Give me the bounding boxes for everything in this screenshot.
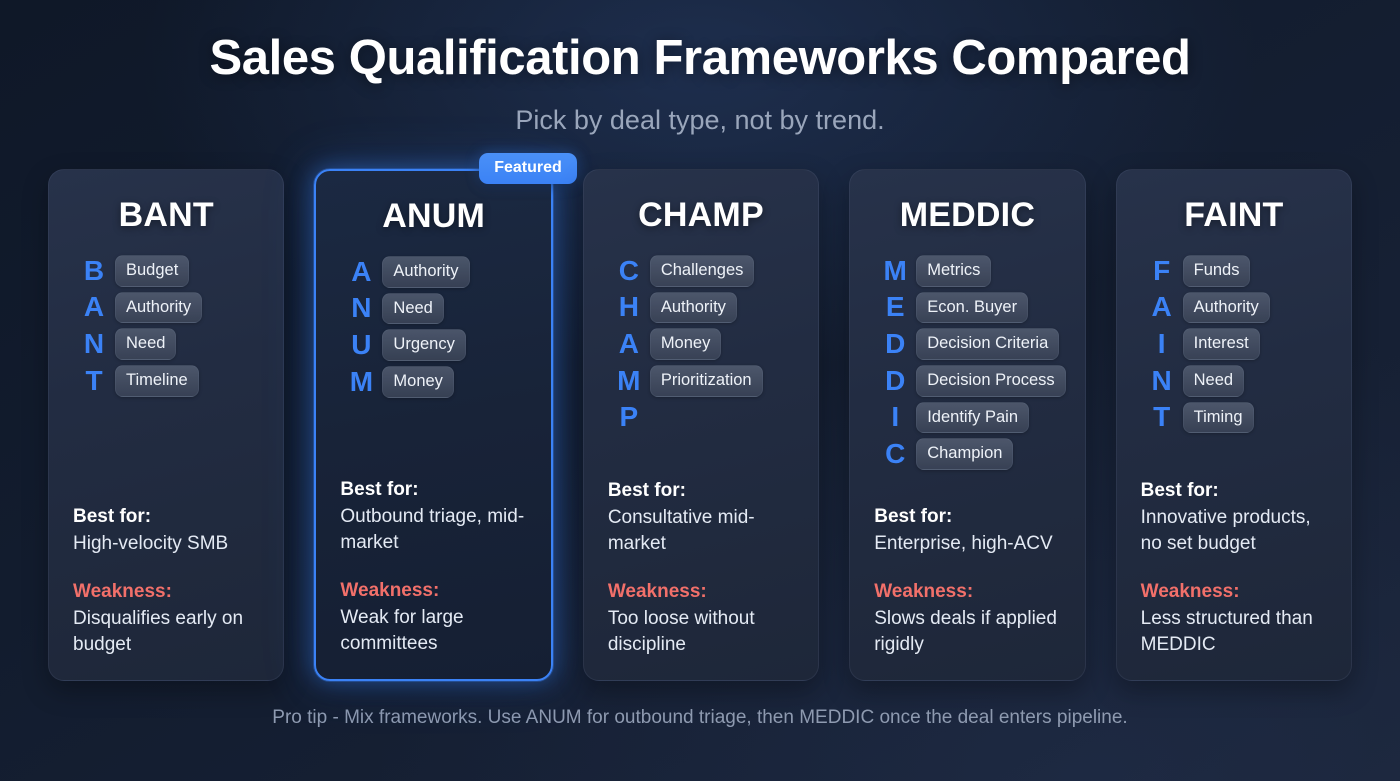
- acronym-list: FFundsAAuthorityIInterestNNeedTTiming: [1141, 255, 1327, 433]
- acronym-row: HAuthority: [616, 292, 737, 324]
- weakness-label: Weakness:: [73, 581, 259, 603]
- framework-title: MEDDIC: [874, 196, 1060, 235]
- acronym-term-chip: Authority: [382, 256, 469, 288]
- acronym-term-chip: Identify Pain: [916, 402, 1029, 434]
- best-for-text: Consultative mid-market: [608, 505, 794, 557]
- acronym-term-chip: Funds: [1183, 255, 1251, 287]
- acronym-letter: M: [348, 368, 374, 396]
- acronym-list: BBudgetAAuthorityNNeedTTimeline: [73, 255, 259, 397]
- acronym-term-chip: Champion: [916, 438, 1013, 470]
- best-for-text: Outbound triage, mid-market: [340, 504, 526, 556]
- acronym-letter: C: [882, 440, 908, 468]
- acronym-letter: T: [81, 367, 107, 395]
- acronym-row: FFunds: [1149, 255, 1251, 287]
- acronym-row: AMoney: [616, 328, 722, 360]
- acronym-row: MMetrics: [882, 255, 991, 287]
- acronym-term-chip: Decision Criteria: [916, 328, 1059, 360]
- framework-card-champ[interactable]: CHAMPCChallengesHAuthorityAMoneyMPriorit…: [583, 169, 819, 681]
- weakness-block: Weakness:Too loose without discipline: [608, 581, 794, 658]
- framework-card-bant[interactable]: BANTBBudgetAAuthorityNNeedTTimelineBest …: [48, 169, 284, 681]
- best-for-block: Best for:Enterprise, high-ACV: [874, 506, 1060, 557]
- acronym-letter: M: [616, 367, 642, 395]
- acronym-row: CChampion: [882, 438, 1013, 470]
- best-for-block: Best for:Consultative mid-market: [608, 480, 794, 557]
- acronym-letter: N: [1149, 367, 1175, 395]
- card-info: Best for:Enterprise, high-ACVWeakness:Sl…: [874, 506, 1060, 658]
- acronym-term-chip: Timing: [1183, 402, 1254, 434]
- acronym-letter: T: [1149, 403, 1175, 431]
- acronym-row: BBudget: [81, 255, 189, 287]
- acronym-letter: M: [882, 257, 908, 285]
- framework-title: BANT: [73, 196, 259, 235]
- footer-pro-tip: Pro tip - Mix frameworks. Use ANUM for o…: [0, 707, 1400, 729]
- acronym-letter: D: [882, 330, 908, 358]
- framework-card-meddic[interactable]: MEDDICMMetricsEEcon. BuyerDDecision Crit…: [849, 169, 1085, 681]
- framework-title: CHAMP: [608, 196, 794, 235]
- acronym-letter: P: [616, 403, 642, 431]
- acronym-term-chip: Need: [115, 328, 176, 360]
- acronym-row: CChallenges: [616, 255, 755, 287]
- acronym-letter: N: [81, 330, 107, 358]
- acronym-letter: E: [882, 293, 908, 321]
- best-for-block: Best for:Innovative products, no set bud…: [1141, 480, 1327, 557]
- acronym-letter: A: [1149, 293, 1175, 321]
- acronym-letter: A: [81, 293, 107, 321]
- best-for-label: Best for:: [608, 480, 794, 502]
- acronym-letter: A: [616, 330, 642, 358]
- card-info: Best for:Outbound triage, mid-marketWeak…: [340, 479, 526, 657]
- weakness-text: Weak for large committees: [340, 605, 526, 657]
- acronym-term-chip: Timeline: [115, 365, 199, 397]
- weakness-text: Less structured than MEDDIC: [1141, 606, 1327, 658]
- acronym-row: EEcon. Buyer: [882, 292, 1028, 324]
- acronym-letter: H: [616, 293, 642, 321]
- acronym-term-chip: Money: [382, 366, 454, 398]
- best-for-text: High-velocity SMB: [73, 531, 259, 557]
- weakness-text: Disqualifies early on budget: [73, 606, 259, 658]
- acronym-letter: N: [348, 294, 374, 322]
- acronym-term-chip: Money: [650, 328, 722, 360]
- weakness-block: Weakness:Weak for large committees: [340, 580, 526, 657]
- weakness-label: Weakness:: [874, 581, 1060, 603]
- acronym-row: AAuthority: [348, 256, 469, 288]
- weakness-label: Weakness:: [340, 580, 526, 602]
- acronym-row: NNeed: [1149, 365, 1244, 397]
- best-for-block: Best for:High-velocity SMB: [73, 506, 259, 557]
- page-root: Sales Qualification Frameworks Compared …: [0, 0, 1400, 781]
- acronym-row: MPrioritization: [616, 365, 763, 397]
- acronym-term-chip: Econ. Buyer: [916, 292, 1028, 324]
- acronym-list: CChallengesHAuthorityAMoneyMPrioritizati…: [608, 255, 794, 433]
- acronym-term-chip: Metrics: [916, 255, 991, 287]
- acronym-row: DDecision Process: [882, 365, 1065, 397]
- acronym-letter: U: [348, 331, 374, 359]
- acronym-row: IInterest: [1149, 328, 1260, 360]
- acronym-term-chip: Need: [1183, 365, 1244, 397]
- acronym-list: MMetricsEEcon. BuyerDDecision CriteriaDD…: [874, 255, 1060, 470]
- acronym-list: AAuthorityNNeedUUrgencyMMoney: [340, 256, 526, 398]
- page-subtitle: Pick by deal type, not by trend.: [0, 105, 1400, 136]
- weakness-label: Weakness:: [608, 581, 794, 603]
- acronym-letter: B: [81, 257, 107, 285]
- acronym-letter: D: [882, 367, 908, 395]
- acronym-row: TTimeline: [81, 365, 199, 397]
- acronym-row: DDecision Criteria: [882, 328, 1059, 360]
- best-for-label: Best for:: [1141, 480, 1327, 502]
- best-for-text: Enterprise, high-ACV: [874, 531, 1060, 557]
- card-info: Best for:High-velocity SMBWeakness:Disqu…: [73, 506, 259, 658]
- card-info: Best for:Innovative products, no set bud…: [1141, 480, 1327, 658]
- acronym-term-chip: Authority: [650, 292, 737, 324]
- best-for-block: Best for:Outbound triage, mid-market: [340, 479, 526, 556]
- acronym-row: NNeed: [81, 328, 176, 360]
- acronym-term-chip: Authority: [115, 292, 202, 324]
- framework-card-anum[interactable]: FeaturedANUMAAuthorityNNeedUUrgencyMMone…: [314, 169, 552, 681]
- card-info: Best for:Consultative mid-marketWeakness…: [608, 480, 794, 658]
- page-header: Sales Qualification Frameworks Compared …: [0, 0, 1400, 136]
- weakness-text: Too loose without discipline: [608, 606, 794, 658]
- acronym-row: AAuthority: [1149, 292, 1270, 324]
- acronym-letter: I: [1149, 330, 1175, 358]
- acronym-row: P: [616, 402, 642, 433]
- acronym-row: UUrgency: [348, 329, 465, 361]
- acronym-term-chip: Authority: [1183, 292, 1270, 324]
- acronym-term-chip: Prioritization: [650, 365, 763, 397]
- weakness-block: Weakness:Disqualifies early on budget: [73, 581, 259, 658]
- framework-title: ANUM: [340, 197, 526, 236]
- best-for-label: Best for:: [874, 506, 1060, 528]
- acronym-row: AAuthority: [81, 292, 202, 324]
- acronym-term-chip: Need: [382, 293, 443, 325]
- weakness-text: Slows deals if applied rigidly: [874, 606, 1060, 658]
- acronym-term-chip: Interest: [1183, 328, 1260, 360]
- acronym-row: TTiming: [1149, 402, 1254, 434]
- framework-title: FAINT: [1141, 196, 1327, 235]
- framework-card-faint[interactable]: FAINTFFundsAAuthorityIInterestNNeedTTimi…: [1116, 169, 1352, 681]
- acronym-row: IIdentify Pain: [882, 402, 1029, 434]
- acronym-term-chip: Urgency: [382, 329, 465, 361]
- page-title: Sales Qualification Frameworks Compared: [0, 34, 1400, 83]
- weakness-block: Weakness:Slows deals if applied rigidly: [874, 581, 1060, 658]
- weakness-label: Weakness:: [1141, 581, 1327, 603]
- acronym-letter: C: [616, 257, 642, 285]
- acronym-term-chip: Challenges: [650, 255, 755, 287]
- acronym-term-chip: Budget: [115, 255, 189, 287]
- best-for-label: Best for:: [340, 479, 526, 501]
- acronym-letter: A: [348, 258, 374, 286]
- best-for-text: Innovative products, no set budget: [1141, 505, 1327, 557]
- acronym-term-chip: Decision Process: [916, 365, 1065, 397]
- best-for-label: Best for:: [73, 506, 259, 528]
- weakness-block: Weakness:Less structured than MEDDIC: [1141, 581, 1327, 658]
- acronym-letter: I: [882, 403, 908, 431]
- acronym-row: MMoney: [348, 366, 454, 398]
- framework-card-row: BANTBBudgetAAuthorityNNeedTTimelineBest …: [0, 169, 1400, 681]
- acronym-row: NNeed: [348, 293, 443, 325]
- acronym-letter: F: [1149, 257, 1175, 285]
- featured-badge: Featured: [479, 153, 577, 184]
